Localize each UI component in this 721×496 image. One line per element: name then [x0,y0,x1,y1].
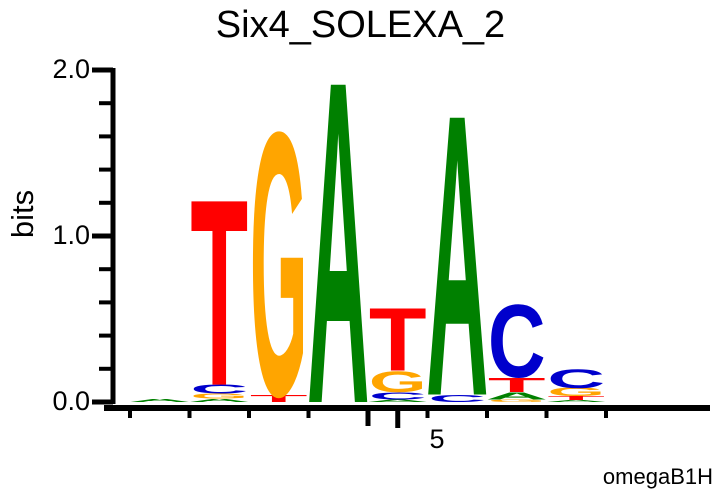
logo-column-7: GATC [486,283,548,403]
logo-column-8: ATGC [545,364,607,403]
logo-letter-a-p4: A [307,0,369,496]
y-tick-marks [92,70,113,402]
logo-stacks: AAGCTTGAACGTCAGATCATGC [129,0,608,496]
logo-column-6: CA [426,31,488,480]
logo-column-4: A [307,0,369,496]
sequence-logo-figure: Six4_SOLEXA_2 bits 2.0 1.0 0.0 5 omegaB1… [0,0,721,496]
logo-letter-t-p5: T [369,290,427,390]
logo-letter-t-p2: T [190,145,248,442]
logo-letter-c-p7: C [488,283,546,400]
logo-letter-a-p1: A [129,398,191,403]
logo-column-2: AGCT [188,145,250,442]
logo-letter-g-p3: G [250,53,308,475]
logo-column-3: TG [250,53,308,475]
logo-column-5: ACGT [367,290,429,403]
logo-letter-a-p6: A [426,31,488,480]
logo-letter-c-p8: C [547,364,605,394]
logo-canvas: AAGCTTGAACGTCAGATCATGC [0,0,721,496]
logo-column-1: A [129,398,191,403]
